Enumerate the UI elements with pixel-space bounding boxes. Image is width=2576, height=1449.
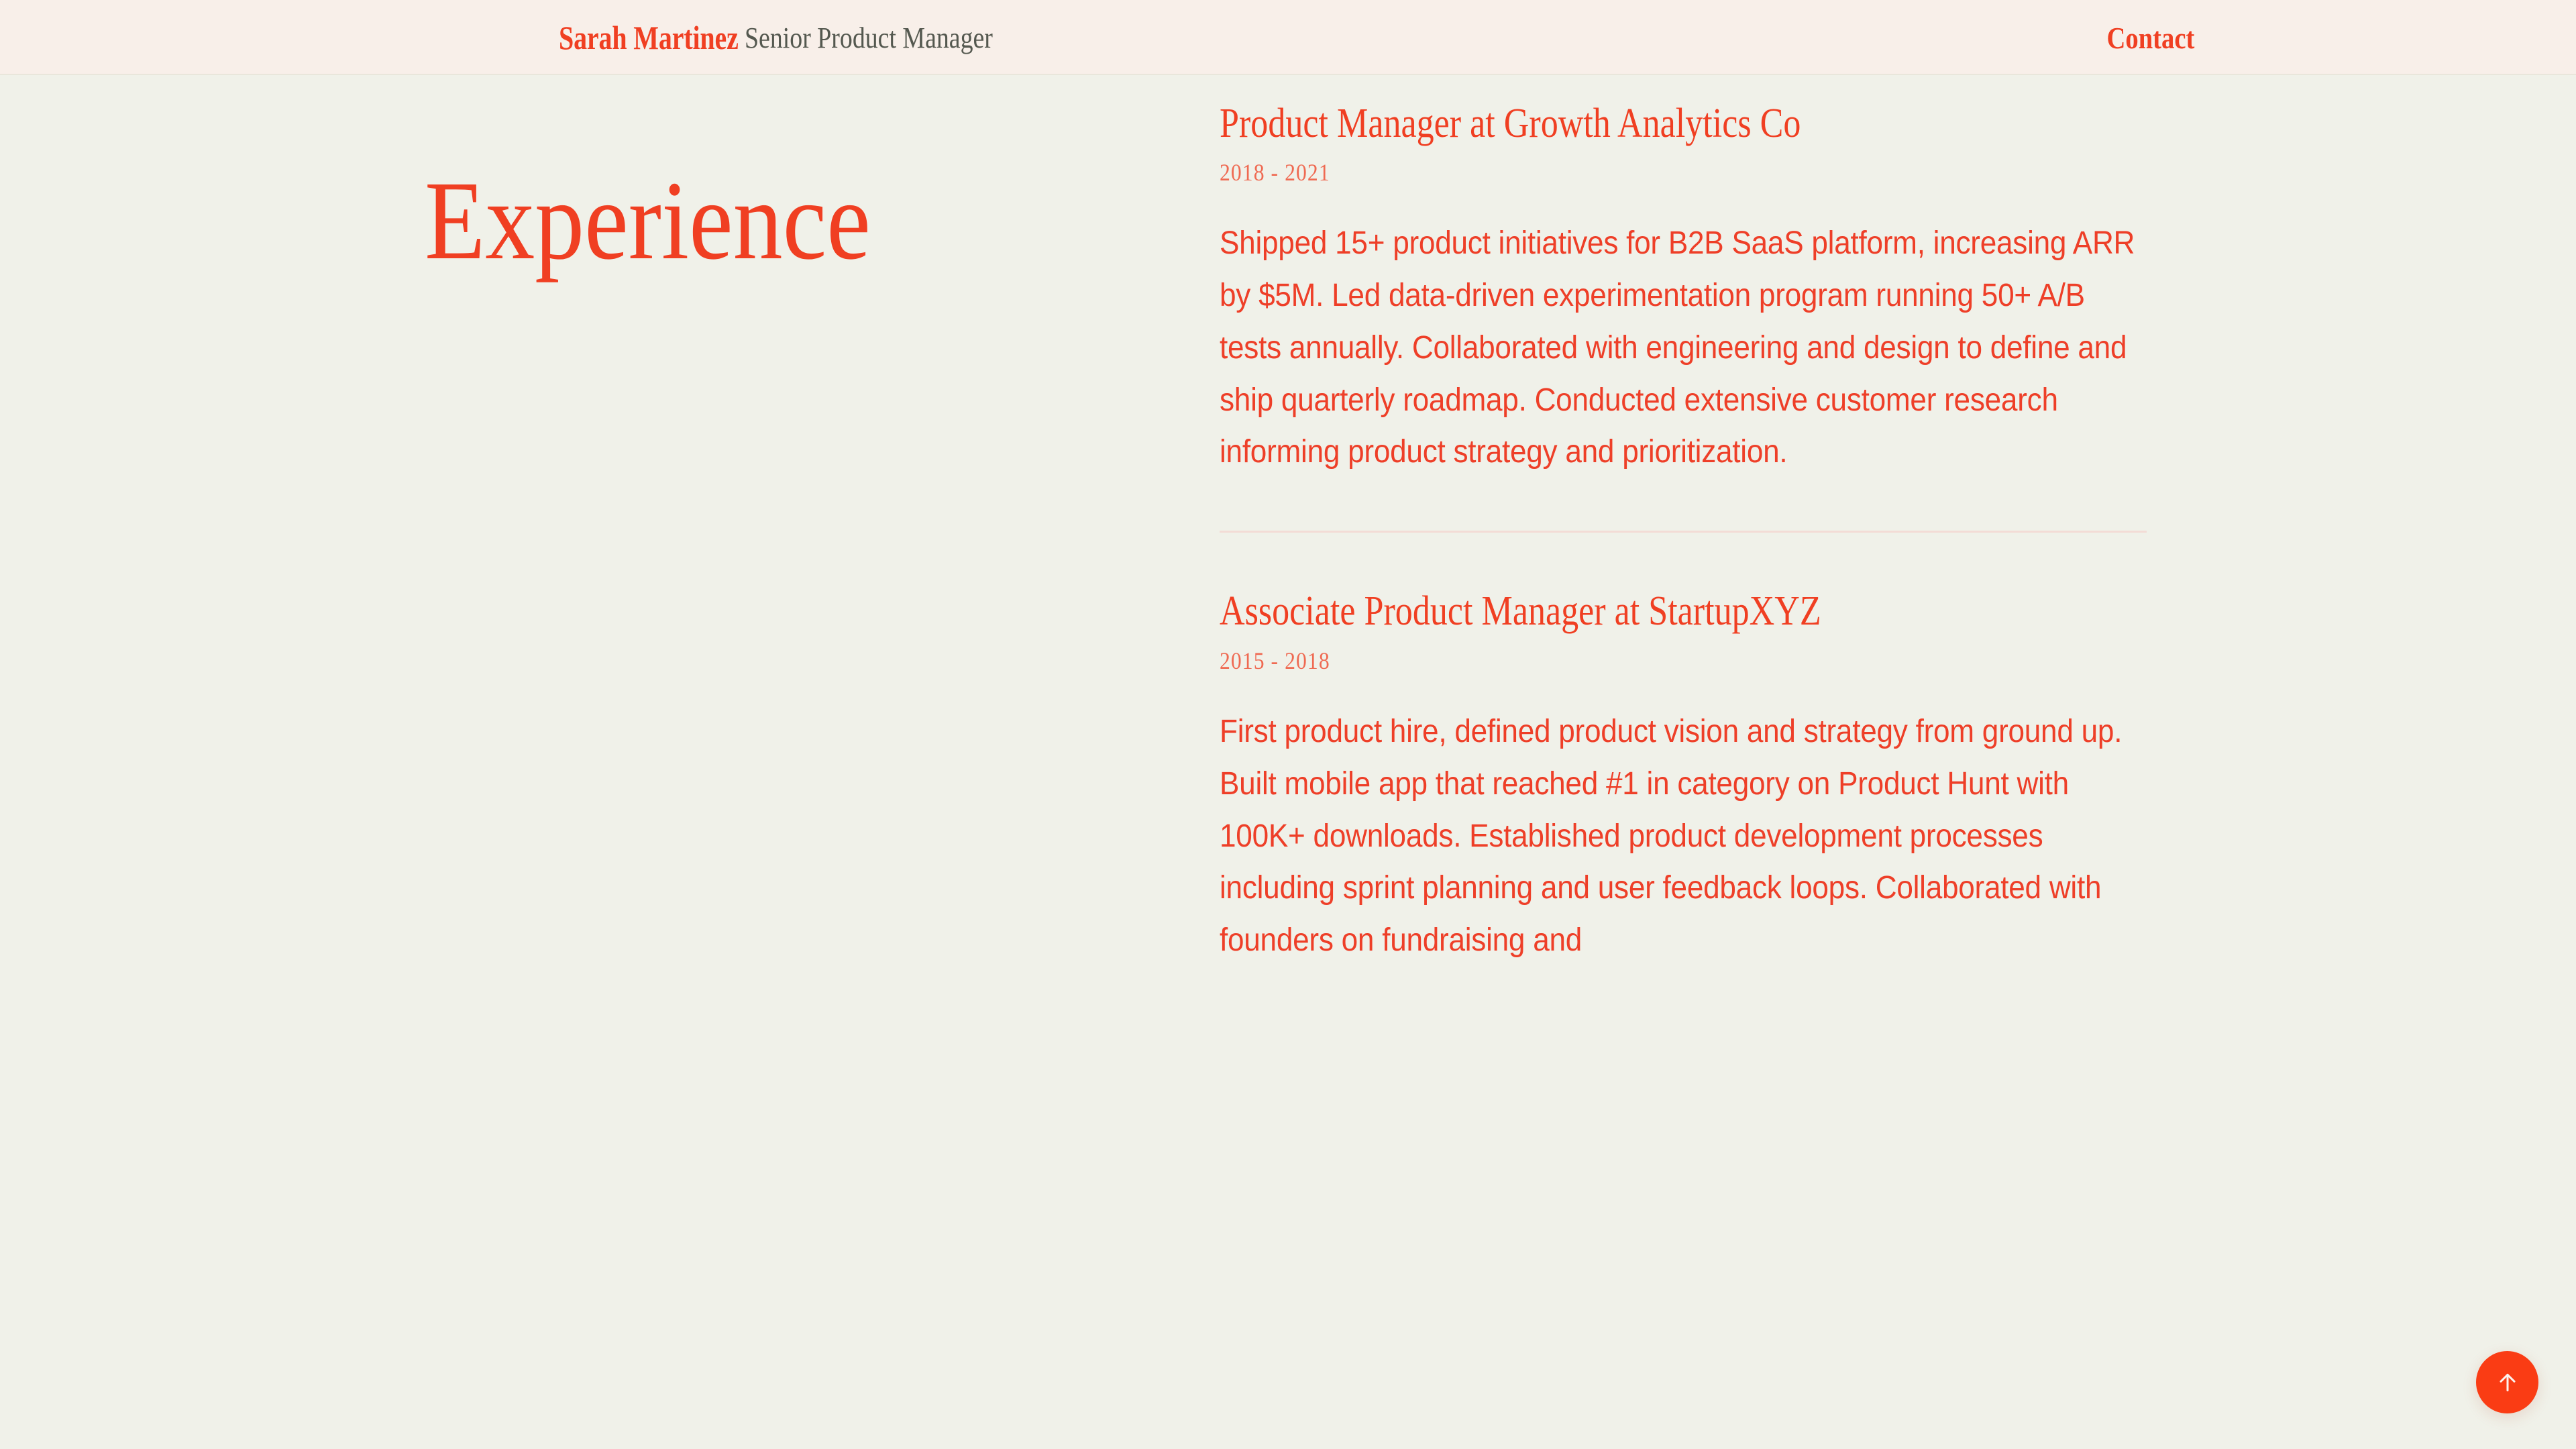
experience-dates: 2015 - 2018 <box>1220 647 2035 675</box>
scroll-to-top-button[interactable] <box>2476 1351 2538 1413</box>
arrow-up-icon <box>2494 1369 2521 1396</box>
entry-divider <box>1220 531 2147 533</box>
site-header: Sarah Martinez Senior Product Manager Co… <box>0 0 2576 75</box>
experience-dates: 2018 - 2021 <box>1220 158 2035 186</box>
experience-role-title: Product Manager at Growth Analytics Co <box>1220 100 1998 148</box>
experience-entry: Associate Product Manager at StartupXYZ … <box>1220 588 2147 967</box>
nav-link-contact[interactable]: Contact <box>2107 0 2195 75</box>
experience-role-title: Associate Product Manager at StartupXYZ <box>1220 588 1998 636</box>
experience-entry: Product Manager at Growth Analytics Co 2… <box>1220 100 2147 479</box>
page-root: engineers, designers, and analysts. Defi… <box>0 0 2576 1449</box>
experience-list: engineers, designers, and analysts. Defi… <box>1220 0 2147 967</box>
brand-role-subtitle: Senior Product Manager <box>745 21 993 55</box>
brand-name[interactable]: Sarah Martinez <box>559 18 739 57</box>
experience-description: First product hire, defined product visi… <box>1220 706 2145 967</box>
experience-description: Shipped 15+ product initiatives for B2B … <box>1220 217 2145 478</box>
page-title: Experience <box>425 164 871 277</box>
brand-group[interactable]: Sarah Martinez Senior Product Manager <box>559 0 1033 75</box>
